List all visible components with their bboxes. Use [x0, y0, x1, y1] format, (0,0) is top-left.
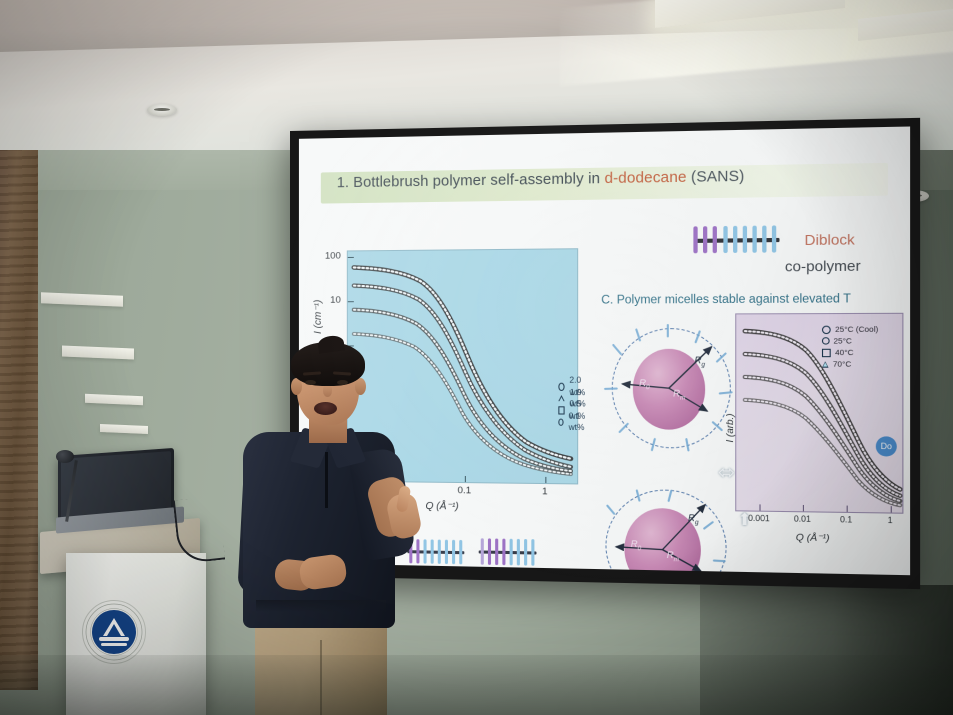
micelle-label-rm: Rm	[673, 388, 685, 401]
photo-scene: 1. Bottlebrush polymer self-assembly in …	[0, 0, 953, 715]
legend-label: 70°C	[833, 358, 851, 370]
copolymer-label: co-polymer	[785, 257, 861, 274]
x-tick-label: 0.1	[449, 485, 480, 497]
bottlebrush-schematic-2	[479, 538, 539, 566]
chart-sans-concentration-legend: 2.0 wt% 1.0 wt% 0.5 wt% 0.1 wt%	[558, 381, 587, 428]
section-c-heading: C. Polymer micelles stable against eleva…	[601, 293, 851, 307]
wood-column	[0, 130, 38, 690]
legend-marker-square	[558, 406, 564, 414]
legend-marker-small-circle	[822, 337, 829, 344]
process-arrow-left: ⬄	[718, 461, 735, 485]
chart-sans-temperature-legend: 25°C (Cool) 25°C 40°C 70°C	[822, 323, 878, 369]
presenter-mouth	[314, 402, 337, 415]
ceiling-downlight-1	[147, 104, 177, 116]
legend-label: 0.1 wt%	[569, 410, 588, 434]
legend-label: 40°C	[835, 347, 853, 359]
micelle-label-rm: Rm	[667, 550, 679, 563]
presenter-nose	[323, 385, 332, 397]
bottlebrush-schematic-1	[407, 539, 466, 564]
chart-sans-temperature-xlabel: Q (Å⁻¹)	[796, 532, 830, 544]
diblock-copolymer-icon	[691, 225, 781, 253]
micelle-label-r0: R0	[639, 378, 649, 391]
presenter-ear-right	[355, 378, 366, 395]
chart-sans-temperature-ylabel: I (arb.)	[724, 413, 736, 442]
seal-ring-text	[83, 601, 145, 663]
floor-shadow	[0, 655, 953, 715]
micelle-label-rg: Rg	[688, 513, 699, 526]
chart-sans-concentration-ylabel: I (cm⁻¹)	[313, 300, 324, 334]
slide-title-suffix: (SANS)	[687, 168, 745, 186]
presenter-eye-right	[337, 380, 348, 385]
x-tick-label: 0.1	[832, 515, 861, 525]
legend-marker-triangle	[822, 361, 829, 367]
micelle-diagram-upper: R0 Rm Rg	[605, 324, 737, 455]
legend-marker-circle	[822, 325, 831, 333]
y-tick-label: 100	[311, 251, 341, 262]
presenter-eye-left	[305, 380, 316, 385]
micelle-radius-arrows	[601, 487, 729, 575]
do-badge: Do	[876, 436, 897, 456]
legend-marker-square	[822, 348, 831, 356]
legend-marker-triangle	[558, 395, 564, 401]
corona-bristle	[604, 387, 618, 390]
diblock-label: Diblock	[805, 231, 855, 248]
micelle-diagram-lower: R0 Rm Rg	[601, 487, 729, 575]
x-tick-label: 1	[876, 515, 905, 525]
x-tick-label: 0.01	[788, 514, 816, 524]
slide-title-highlight: d-dodecane	[604, 169, 686, 187]
shirt-placket	[325, 452, 328, 508]
micelle-radius-arrows	[605, 324, 737, 455]
legend-marker-small-circle	[558, 419, 563, 426]
micelle-label-r0: R0	[631, 539, 641, 552]
microphone-head	[56, 450, 74, 463]
x-tick-label: 0.001	[745, 514, 773, 524]
shirt-hem-shadow	[256, 600, 386, 612]
legend-marker-circle	[558, 382, 564, 390]
legend-label: 25°C (Cool)	[835, 323, 878, 335]
chart-sans-concentration-xlabel: Q (Å⁻¹)	[426, 501, 459, 513]
x-tick-label: 1	[529, 486, 560, 498]
micelle-label-rg: Rg	[694, 355, 705, 368]
legend-label: 25°C	[833, 335, 851, 347]
